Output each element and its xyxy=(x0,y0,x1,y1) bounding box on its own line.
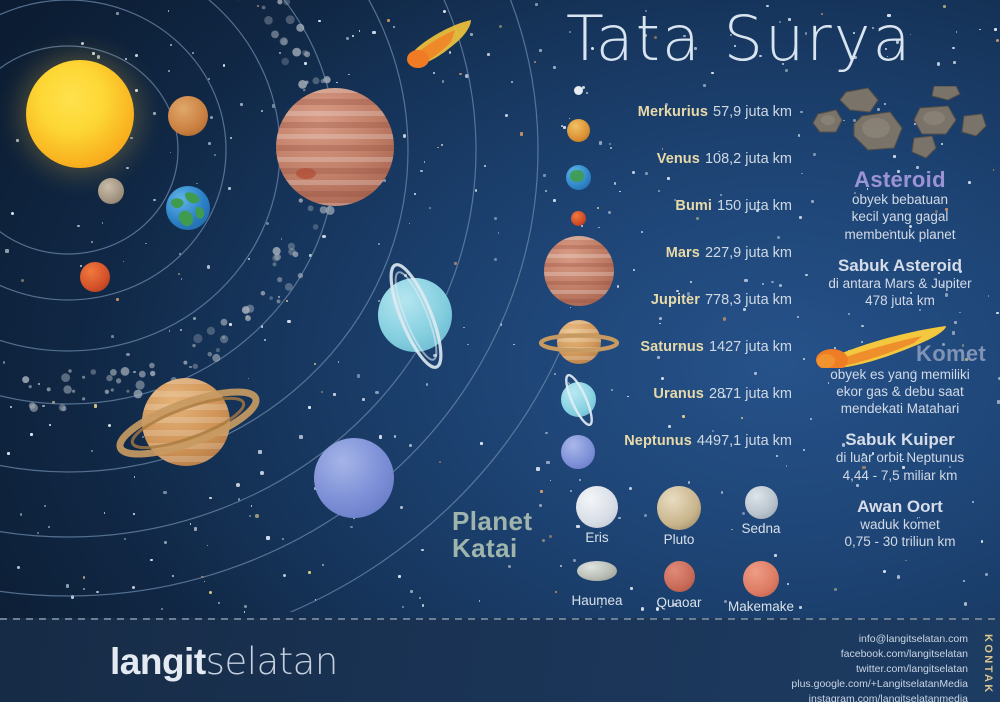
star xyxy=(703,84,706,87)
sabuk-kuiper-block: Sabuk Kuiper di luar orbit Neptunus 4,44… xyxy=(800,430,1000,484)
asteroid-desc-1: obyek bebatuan xyxy=(800,191,1000,208)
dwarf-planet-heading: Planet Katai xyxy=(452,508,562,563)
quaoar-ball xyxy=(664,561,695,592)
planet-uranus-orbit xyxy=(378,278,452,352)
asteroid-desc-2: kecil yang gagal xyxy=(800,208,1000,225)
haumea-ball xyxy=(577,561,617,581)
dwarf-item-haumea: Haumea xyxy=(556,561,638,614)
star xyxy=(985,573,988,576)
page-title: Tata Surya xyxy=(566,2,912,75)
planet-row: Neptunus4497,1 juta km xyxy=(600,417,792,464)
size-mars xyxy=(571,211,586,226)
star xyxy=(953,61,956,64)
komet-desc-3: mendekati Matahari xyxy=(800,400,1000,417)
makemake-ball xyxy=(743,561,779,597)
awan-oort-block: Awan Oort waduk komet 0,75 - 30 triliun … xyxy=(800,497,1000,551)
planet-jupiter-orbit xyxy=(276,88,394,206)
dwarf-label: Eris xyxy=(556,530,638,545)
planet-name: Neptunus xyxy=(624,433,692,449)
sabuk-asteroid-title: Sabuk Asteroid xyxy=(800,256,1000,275)
dwarf-planet-grid: Eris Pluto Sedna Haumea Quaoar Make xyxy=(556,486,804,614)
dwarf-item-makemake: Makemake xyxy=(720,561,802,614)
contact-line[interactable]: facebook.com/langitselatan xyxy=(791,647,968,662)
contact-line[interactable]: info@langitselatan.com xyxy=(791,632,968,647)
planet-name: Mars xyxy=(666,245,700,261)
planet-distance: 57,9 juta km xyxy=(713,104,792,120)
planet-row: Venus108,2 juta km xyxy=(600,135,792,182)
star xyxy=(883,570,886,573)
planet-distance: 227,9 juta km xyxy=(705,245,792,261)
sabuk-kuiper-title: Sabuk Kuiper xyxy=(800,430,1000,449)
star xyxy=(979,29,981,31)
dwarf-row-1: Eris Pluto Sedna xyxy=(556,486,804,547)
star xyxy=(786,465,788,467)
planet-name: Uranus xyxy=(653,386,704,402)
sabuk-asteroid-block: Sabuk Asteroid di antara Mars & Jupiter … xyxy=(800,256,1000,310)
asteroid-block: Asteroid obyek bebatuan kecil yang gagal… xyxy=(800,168,1000,243)
planet-mars-orbit xyxy=(80,262,110,292)
dwarf-label: Haumea xyxy=(556,593,638,608)
dwarf-label: Sedna xyxy=(720,521,802,536)
awan-oort-title: Awan Oort xyxy=(800,497,1000,516)
dwarf-item-pluto: Pluto xyxy=(638,486,720,547)
awan-oort-desc-1: waduk komet xyxy=(800,516,1000,533)
planet-distance: 2871 juta km xyxy=(709,386,792,402)
planet-row: Jupiter778,3 juta km xyxy=(600,276,792,323)
dwarf-item-eris: Eris xyxy=(556,486,638,547)
planet-name: Saturnus xyxy=(640,339,704,355)
planet-distance: 150 juta km xyxy=(717,198,792,214)
komet-desc-2: ekor gas & debu saat xyxy=(800,383,1000,400)
awan-oort-desc-2: 0,75 - 30 triliun km xyxy=(800,533,1000,550)
planet-row: Mars227,9 juta km xyxy=(600,229,792,276)
planet-name: Merkurius xyxy=(638,104,708,120)
contact-line[interactable]: twitter.com/langitselatan xyxy=(791,662,968,677)
star xyxy=(797,316,799,318)
sabuk-kuiper-desc-1: di luar orbit Neptunus xyxy=(800,449,1000,466)
star xyxy=(688,481,691,484)
star xyxy=(834,588,837,591)
size-uranus xyxy=(561,382,596,417)
dashed-divider xyxy=(0,618,1000,620)
star xyxy=(952,47,955,50)
dwarf-label: Quaoar xyxy=(638,595,720,610)
dwarf-heading-line2: Katai xyxy=(452,535,562,562)
star xyxy=(943,5,946,8)
planet-neptune-orbit xyxy=(314,438,394,518)
star xyxy=(897,575,900,578)
planet-distance: 778,3 juta km xyxy=(705,292,792,308)
star xyxy=(937,62,940,65)
pluto-ball xyxy=(657,486,701,530)
sabuk-asteroid-desc-2: 478 juta km xyxy=(800,292,1000,309)
asteroid-cluster-icon xyxy=(810,86,990,164)
size-earth-land xyxy=(570,170,584,182)
dwarf-label: Pluto xyxy=(638,532,720,547)
size-neptune xyxy=(561,435,595,469)
size-venus xyxy=(567,119,590,142)
star xyxy=(956,31,958,33)
solar-system-infographic: Tata Surya Merkurius57,9 juta kmVenus108… xyxy=(0,0,1000,702)
dwarf-heading-line1: Planet xyxy=(452,508,562,535)
planet-saturn-orbit xyxy=(142,378,230,466)
dwarf-item-sedna: Sedna xyxy=(720,486,802,547)
planet-name: Jupiter xyxy=(651,292,700,308)
wordmark: langitselatan xyxy=(110,640,338,683)
sedna-ball xyxy=(745,486,778,519)
footer: LANGITSELATAN · ASTRO.ID · langitselatan… xyxy=(0,618,1000,702)
planet-row: Saturnus1427 juta km xyxy=(600,323,792,370)
asteroid-desc-3: membentuk planet xyxy=(800,226,1000,243)
sabuk-kuiper-desc-2: 4,44 - 7,5 miliar km xyxy=(800,467,1000,484)
dwarf-row-2: Haumea Quaoar Makemake xyxy=(556,561,804,614)
asteroid-title: Asteroid xyxy=(800,168,1000,191)
contact-list: info@langitselatan.comfacebook.com/langi… xyxy=(791,632,968,702)
wordmark-bold: langit xyxy=(110,641,206,682)
planet-row: Uranus2871 juta km xyxy=(600,370,792,417)
size-mercury xyxy=(574,86,583,95)
planet-distance: 4497,1 juta km xyxy=(697,433,792,449)
planet-earth-orbit xyxy=(166,186,210,230)
planet-distance-list: Merkurius57,9 juta kmVenus108,2 juta kmB… xyxy=(600,88,792,464)
planet-distance: 108,2 juta km xyxy=(705,151,792,167)
komet-desc-1: obyek es yang memiliki xyxy=(800,366,1000,383)
dwarf-item-quaoar: Quaoar xyxy=(638,561,720,614)
kontak-label: KONTAK xyxy=(982,634,994,695)
contact-line[interactable]: instagram.com/langitselatanmedia xyxy=(791,692,968,702)
planet-name: Bumi xyxy=(675,198,712,214)
jupiter-red-spot xyxy=(296,168,316,179)
planet-venus-orbit xyxy=(168,96,208,136)
star xyxy=(963,580,965,582)
planet-row: Bumi150 juta km xyxy=(600,182,792,229)
planet-distance: 1427 juta km xyxy=(709,339,792,355)
planet-name: Venus xyxy=(657,151,700,167)
planet-mercury-orbit xyxy=(98,178,124,204)
size-saturn xyxy=(557,320,601,364)
dwarf-label: Makemake xyxy=(720,599,802,614)
star xyxy=(996,39,999,42)
sabuk-asteroid-desc-1: di antara Mars & Jupiter xyxy=(800,275,1000,292)
contact-line[interactable]: plus.google.com/+LangitselatanMedia xyxy=(791,677,968,692)
eris-ball xyxy=(576,486,618,528)
star xyxy=(994,28,997,31)
wordmark-light: selatan xyxy=(206,640,338,683)
sun xyxy=(26,60,134,168)
right-info-column: Asteroid obyek bebatuan kecil yang gagal… xyxy=(800,86,1000,563)
planet-row: Merkurius57,9 juta km xyxy=(600,88,792,135)
star xyxy=(964,602,967,605)
